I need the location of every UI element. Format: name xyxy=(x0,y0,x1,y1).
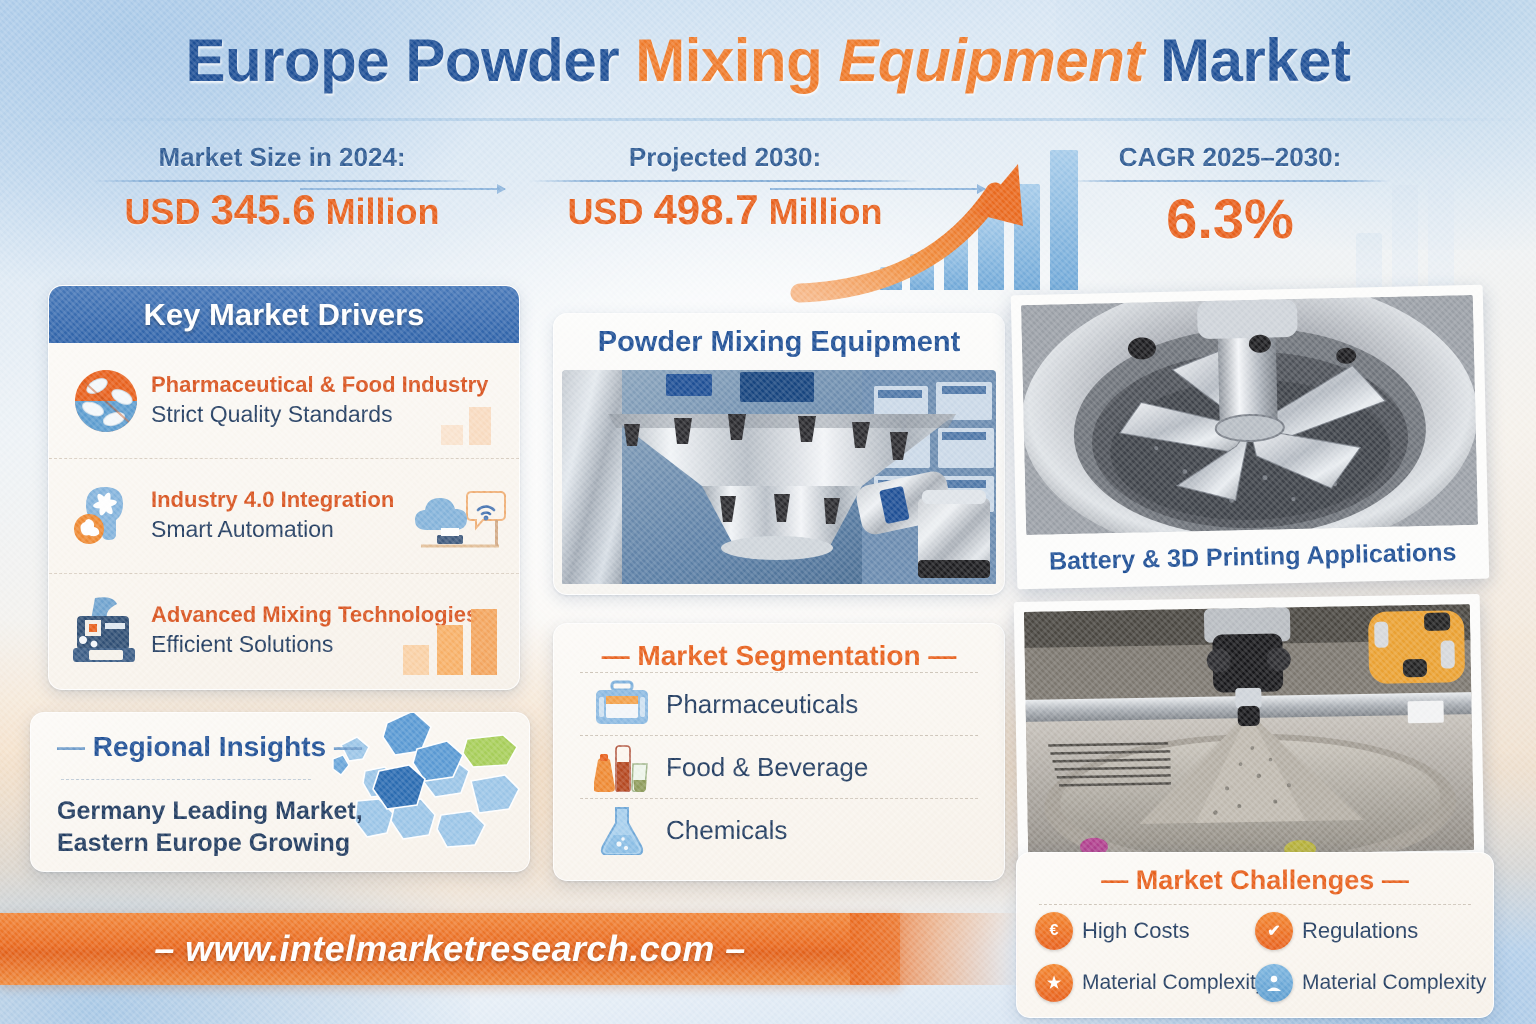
driver-item-industry40[interactable]: Industry 4.0 Integration Smart Automatio… xyxy=(49,458,519,573)
stat-number: 498.7 xyxy=(653,186,758,233)
driver-item-advanced-mixing[interactable]: Advanced Mixing Technologies Efficient S… xyxy=(49,573,519,688)
title-part-1: Europe Powder xyxy=(185,27,635,94)
regional-insights-panel: — Regional Insights — Germany Leading Ma… xyxy=(30,712,530,872)
title-part-2: Market xyxy=(1160,27,1350,94)
segment-item-food-beverage[interactable]: Food & Beverage xyxy=(580,735,978,798)
driver-item-pharmaceutical[interactable]: Pharmaceutical & Food Industry Strict Qu… xyxy=(49,343,519,458)
market-challenges-panel: — Market Challenges — € High Costs ✔ Reg… xyxy=(1016,852,1494,1018)
pill-capsule-icon xyxy=(67,362,145,440)
stat-connector-arrow-1 xyxy=(300,188,505,190)
key-market-drivers-panel: Key Market Drivers Pharmaceutical & Food xyxy=(48,285,520,690)
equipment-card-caption: Powder Mixing Equipment xyxy=(554,314,1004,370)
stat-divider xyxy=(530,180,920,182)
stat-cagr: CAGR 2025–2030: 6.3% xyxy=(1070,142,1390,251)
battery-card-caption: Battery & 3D Printing Applications xyxy=(1026,525,1479,589)
dash-right: — xyxy=(334,731,362,762)
regional-divider xyxy=(61,779,311,780)
star-icon: ★ xyxy=(1035,964,1073,1002)
challenges-heading-text: Market Challenges xyxy=(1136,865,1375,895)
check-icon: ✔ xyxy=(1255,912,1293,950)
footer-band: – www.intelmarketresearch.com – xyxy=(0,913,900,985)
flasks-bottles-icon xyxy=(594,742,650,792)
page-title: Europe Powder Mixing Equipment Market xyxy=(0,26,1536,95)
regional-body: Germany Leading Market, Eastern Europe G… xyxy=(57,795,363,859)
chemical-flask-icon xyxy=(594,805,650,855)
mixer-impeller-photo xyxy=(1021,295,1478,535)
stat-value: USD 498.7 Million xyxy=(530,186,920,234)
regional-heading-text: Regional Insights xyxy=(93,731,326,762)
challenge-label: Material Complexity xyxy=(1082,971,1266,995)
stat-label: CAGR 2025–2030: xyxy=(1070,142,1390,173)
3d-printing-powder-photo xyxy=(1024,604,1474,858)
challenge-item-material-complexity-1[interactable]: ★ Material Complexity xyxy=(1035,957,1255,1009)
stat-prefix: USD xyxy=(124,191,210,232)
segment-label: Food & Beverage xyxy=(666,752,868,783)
title-accent-equipment: Equipment xyxy=(838,27,1160,94)
dash-left: — xyxy=(1101,865,1128,895)
stat-connector-arrow-2 xyxy=(770,188,985,190)
challenges-grid: € High Costs ✔ Regulations ★ Material Co… xyxy=(1017,905,1493,1009)
challenge-item-high-costs[interactable]: € High Costs xyxy=(1035,905,1255,957)
challenge-item-regulations[interactable]: ✔ Regulations xyxy=(1255,905,1475,957)
decorative-bars-icon xyxy=(439,399,511,450)
powder-mixing-equipment-card: Powder Mixing Equipment xyxy=(553,313,1005,595)
drivers-panel-heading: Key Market Drivers xyxy=(49,286,519,343)
stat-suffix: Million xyxy=(316,191,440,232)
segment-label: Pharmaceuticals xyxy=(666,689,858,720)
challenge-item-material-complexity-2[interactable]: Material Complexity xyxy=(1255,957,1475,1009)
dash-left: — xyxy=(602,640,630,671)
challenge-label: Regulations xyxy=(1302,918,1418,944)
driver-title: Pharmaceutical & Food Industry xyxy=(151,373,505,397)
challenges-heading: — Market Challenges — xyxy=(1017,865,1493,896)
3d-printing-card xyxy=(1014,594,1485,868)
powder-mixing-machine-photo xyxy=(562,370,996,586)
dash-right: — xyxy=(1382,865,1409,895)
stat-number: 345.6 xyxy=(210,186,315,233)
segmentation-heading-text: Market Segmentation xyxy=(637,640,920,671)
infographic-canvas: Europe Powder Mixing Equipment Market Ma… xyxy=(0,0,1536,1024)
title-accent-mixing: Mixing xyxy=(635,27,838,94)
stat-label: Projected 2030: xyxy=(530,142,920,173)
stat-divider xyxy=(92,180,472,182)
regional-line-1: Germany Leading Market, xyxy=(57,795,363,827)
footer-url[interactable]: – www.intelmarketresearch.com – xyxy=(0,913,900,985)
challenge-label: Material Complexity xyxy=(1302,971,1486,995)
title-divider xyxy=(0,118,1536,121)
stat-value: USD 345.6 Million xyxy=(92,186,472,234)
cloud-wifi-icon xyxy=(411,486,507,561)
stat-value: 6.3% xyxy=(1070,186,1390,251)
mixer-machine-icon xyxy=(67,592,145,670)
segmentation-heading: — Market Segmentation — xyxy=(554,640,1004,672)
stat-label: Market Size in 2024: xyxy=(92,142,472,173)
segment-item-chemicals[interactable]: Chemicals xyxy=(580,798,978,861)
stat-divider xyxy=(1070,180,1390,182)
market-segmentation-panel: — Market Segmentation — Pharmaceuticals xyxy=(553,623,1005,881)
gear-automation-icon xyxy=(67,477,145,555)
regional-line-2: Eastern Europe Growing xyxy=(57,827,363,859)
challenge-label: High Costs xyxy=(1082,918,1190,944)
battery-3d-printing-card: Battery & 3D Printing Applications xyxy=(1011,285,1490,590)
stat-suffix: Million xyxy=(759,191,883,232)
person-icon xyxy=(1255,964,1293,1002)
euro-icon: € xyxy=(1035,912,1073,950)
segment-label: Chemicals xyxy=(666,815,787,846)
regional-heading: — Regional Insights — xyxy=(57,731,362,763)
dash-right: — xyxy=(928,640,956,671)
segment-item-pharmaceuticals[interactable]: Pharmaceuticals xyxy=(580,672,978,735)
medical-case-icon xyxy=(594,679,650,729)
dash-left: — xyxy=(57,731,85,762)
decorative-growth-bars-icon xyxy=(401,605,511,680)
stat-prefix: USD xyxy=(567,191,653,232)
